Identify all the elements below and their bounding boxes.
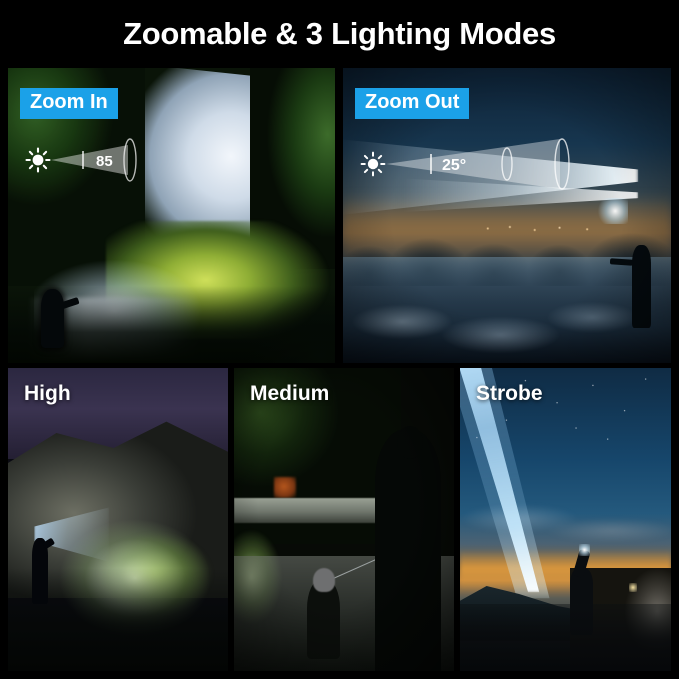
panel-label-zoom-out: Zoom Out	[355, 88, 469, 119]
foreground-shadow-art	[460, 604, 671, 671]
page-header: Zoomable & 3 Lighting Modes	[0, 0, 679, 68]
page-title: Zoomable & 3 Lighting Modes	[123, 16, 556, 52]
top-row: Zoom In	[8, 68, 671, 363]
panel-medium[interactable]: Medium	[234, 368, 454, 671]
panel-zoom-out[interactable]: Zoom Out	[343, 68, 671, 363]
scene-high-photo	[8, 368, 228, 671]
panel-strobe[interactable]: Strobe	[460, 368, 671, 671]
person-silhouette-art	[41, 289, 64, 348]
bottom-row: High Medium	[8, 368, 671, 671]
corner-shadow-art	[185, 227, 335, 363]
scene-medium-photo	[234, 368, 454, 671]
panel-grid: Zoom In	[8, 68, 671, 671]
panel-high[interactable]: High	[8, 368, 228, 671]
panel-zoom-in[interactable]: Zoom In	[8, 68, 335, 363]
panel-label-medium: Medium	[250, 382, 329, 406]
distant-light-art	[629, 583, 637, 592]
vignette-art	[234, 368, 454, 671]
panel-label-strobe: Strobe	[476, 382, 543, 406]
scene-strobe-photo	[460, 368, 671, 671]
panel-label-zoom-in: Zoom In	[20, 88, 118, 119]
panel-label-high: High	[24, 382, 71, 406]
flashlight-tip-art	[579, 544, 590, 556]
